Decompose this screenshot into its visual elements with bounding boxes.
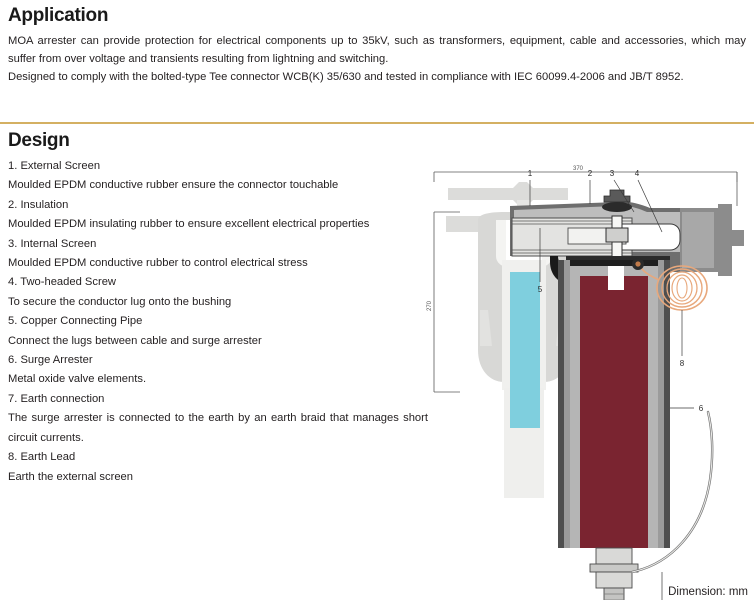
application-heading: Application bbox=[8, 6, 746, 25]
design-item-description: To secure the conductor lug onto the bus… bbox=[8, 293, 428, 312]
design-item-title: 2. Insulation bbox=[8, 196, 428, 215]
design-item-description: Connect the lugs between cable and surge… bbox=[8, 332, 428, 351]
application-section: Application MOA arrester can provide pro… bbox=[8, 6, 746, 87]
tee-connector-assembly bbox=[510, 190, 744, 600]
callout-2: 2 bbox=[588, 169, 593, 178]
design-item-title: 3. Internal Screen bbox=[8, 235, 428, 254]
dim-width-label: 370 bbox=[573, 166, 584, 172]
two-headed-screw-nut bbox=[606, 228, 628, 242]
section-divider bbox=[0, 122, 754, 124]
design-item-title: 7. Earth connection bbox=[8, 390, 428, 409]
arrester-top-rim bbox=[570, 260, 658, 266]
dimension-unit-note: Dimension: mm bbox=[668, 586, 748, 598]
ghost-cable-cyan-tail bbox=[510, 388, 540, 428]
design-item-title: 4. Two-headed Screw bbox=[8, 273, 428, 292]
design-item-description: Moulded EPDM conductive rubber ensure th… bbox=[8, 176, 428, 195]
callout-4: 4 bbox=[635, 169, 640, 178]
divider-line bbox=[0, 122, 754, 124]
mov-element-stack bbox=[580, 276, 648, 548]
screw-top-head bbox=[604, 190, 630, 202]
design-item-description: Moulded EPDM insulating rubber to ensure… bbox=[8, 215, 428, 234]
design-item-description: Earth the external screen bbox=[8, 468, 428, 487]
design-item-title: 8. Earth Lead bbox=[8, 448, 428, 467]
callout-5: 5 bbox=[538, 285, 543, 294]
screw-washer bbox=[602, 202, 632, 212]
datasheet-page: Application MOA arrester can provide pro… bbox=[0, 0, 754, 612]
callout-8: 8 bbox=[680, 359, 685, 368]
design-item-title: 6. Surge Arrester bbox=[8, 351, 428, 370]
design-item-title: 5. Copper Connecting Pipe bbox=[8, 312, 428, 331]
design-section: Design 1. External ScreenMoulded EPDM co… bbox=[8, 131, 428, 487]
ghost-cable-cyan-core bbox=[510, 272, 540, 390]
arrester-cross-section-diagram: 370 270 bbox=[418, 160, 754, 600]
earth-bolt-nut-upper bbox=[596, 548, 632, 564]
design-item-description: Metal oxide valve elements. bbox=[8, 370, 428, 389]
design-heading: Design bbox=[8, 131, 428, 150]
earth-bolt-washer bbox=[590, 564, 638, 572]
design-item-description: Moulded EPDM conductive rubber to contro… bbox=[8, 254, 428, 273]
design-item-list: 1. External ScreenMoulded EPDM conductiv… bbox=[8, 157, 428, 487]
earth-bolt-nut-lower bbox=[596, 572, 632, 588]
application-paragraph-1: MOA arrester can provide protection for … bbox=[8, 33, 746, 68]
design-item-title: 1. External Screen bbox=[8, 157, 428, 176]
dim-height-label: 270 bbox=[427, 300, 433, 311]
design-item-description: The surge arrester is connected to the e… bbox=[8, 409, 428, 448]
arrester-edge-left bbox=[558, 260, 564, 548]
callout-3: 3 bbox=[610, 169, 615, 178]
callout-1: 1 bbox=[528, 169, 533, 178]
earth-lead-eyelet-hole bbox=[635, 261, 640, 266]
diagram-svg: 370 270 bbox=[418, 160, 754, 600]
ghost-upper-flange bbox=[448, 182, 568, 206]
application-paragraph-2: Designed to comply with the bolted-type … bbox=[8, 69, 746, 87]
callout-6: 6 bbox=[699, 404, 704, 413]
